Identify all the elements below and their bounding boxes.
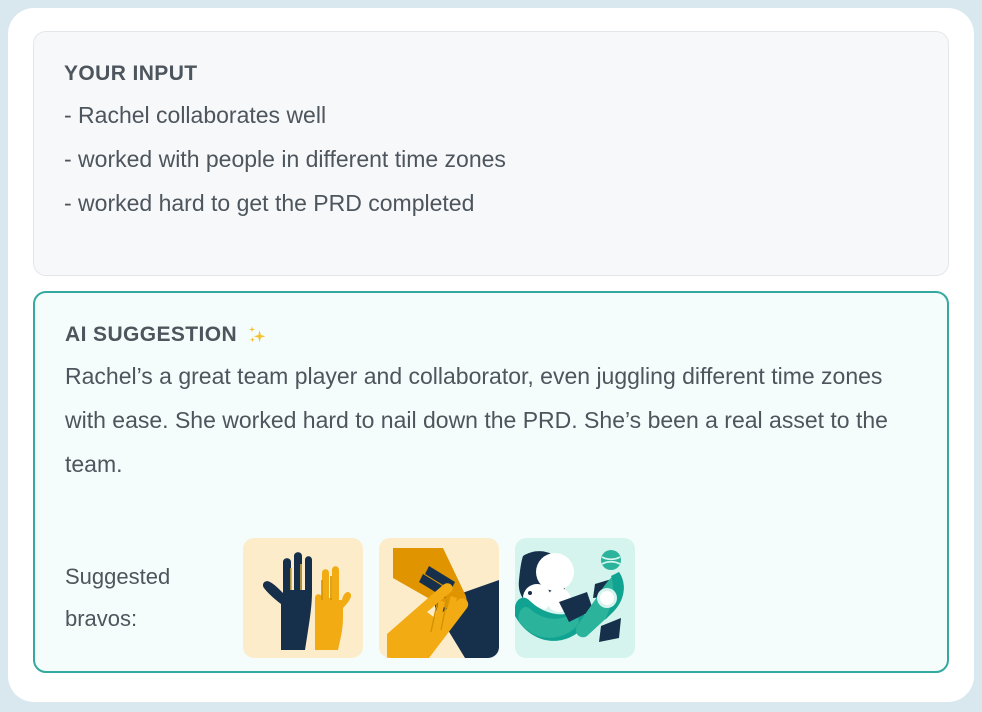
your-input-title: YOUR INPUT bbox=[64, 60, 918, 87]
your-input-card: YOUR INPUT - Rachel collaborates well - … bbox=[33, 31, 949, 276]
your-input-title-label: YOUR INPUT bbox=[64, 60, 198, 87]
suggested-bravos-row: Suggested bravos: bbox=[65, 538, 635, 658]
ai-suggestion-body: Rachel’s a great team player and collabo… bbox=[65, 354, 895, 486]
rocket-sticker[interactable] bbox=[515, 538, 635, 658]
team-hands-sticker[interactable] bbox=[379, 538, 499, 658]
app-panel: YOUR INPUT - Rachel collaborates well - … bbox=[8, 8, 974, 702]
ai-suggestion-title: AI SUGGESTION bbox=[65, 321, 917, 348]
ai-suggestion-title-label: AI SUGGESTION bbox=[65, 321, 237, 348]
sparkles-icon bbox=[246, 324, 270, 348]
suggested-bravos-label: Suggested bravos: bbox=[65, 556, 243, 640]
high-five-sticker[interactable] bbox=[243, 538, 363, 658]
input-bullet-1: - Rachel collaborates well bbox=[64, 93, 918, 137]
input-bullet-2: - worked with people in different time z… bbox=[64, 137, 918, 181]
ai-suggestion-card: AI SUGGESTION Rachel’s a great team play… bbox=[33, 291, 949, 673]
input-bullet-3: - worked hard to get the PRD completed bbox=[64, 181, 918, 225]
